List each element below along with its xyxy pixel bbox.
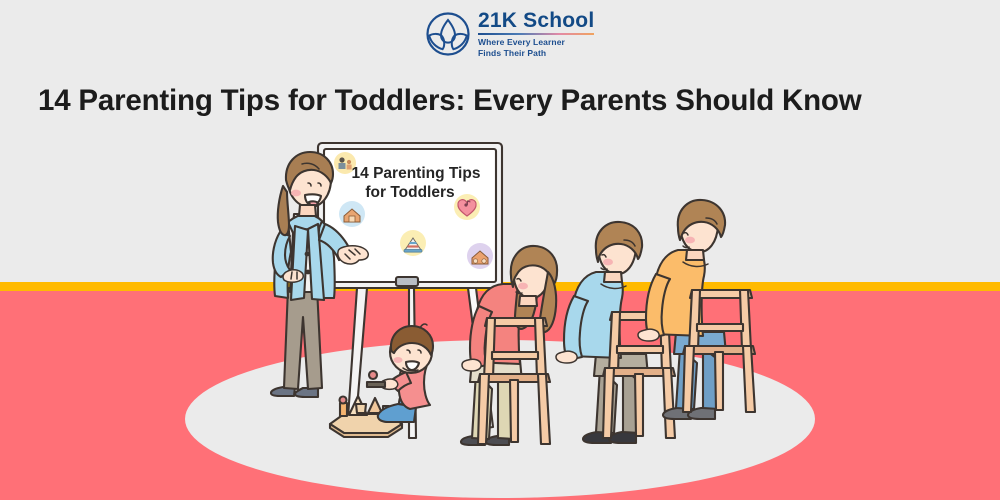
whiteboard-icon-heart-music: [454, 194, 480, 220]
whiteboard-heading-line2: for Toddlers: [365, 184, 454, 201]
whiteboard-icon-toy-blocks: [467, 243, 493, 269]
seated-parent-3: [638, 200, 755, 419]
whiteboard-icon-stacking-toy: [400, 230, 426, 256]
whiteboard-icon-playhouse: [339, 201, 365, 227]
illustration-banner: 21K School Where Every Learner Finds The…: [0, 0, 1000, 500]
scene-svg: .ol{stroke:#3d3530;stroke-width:2.1;stro…: [0, 0, 1000, 500]
whiteboard-heading-line1: 14 Parenting Tips: [352, 165, 481, 182]
marker-tray: [396, 277, 418, 286]
toddler-playing: [330, 324, 433, 437]
